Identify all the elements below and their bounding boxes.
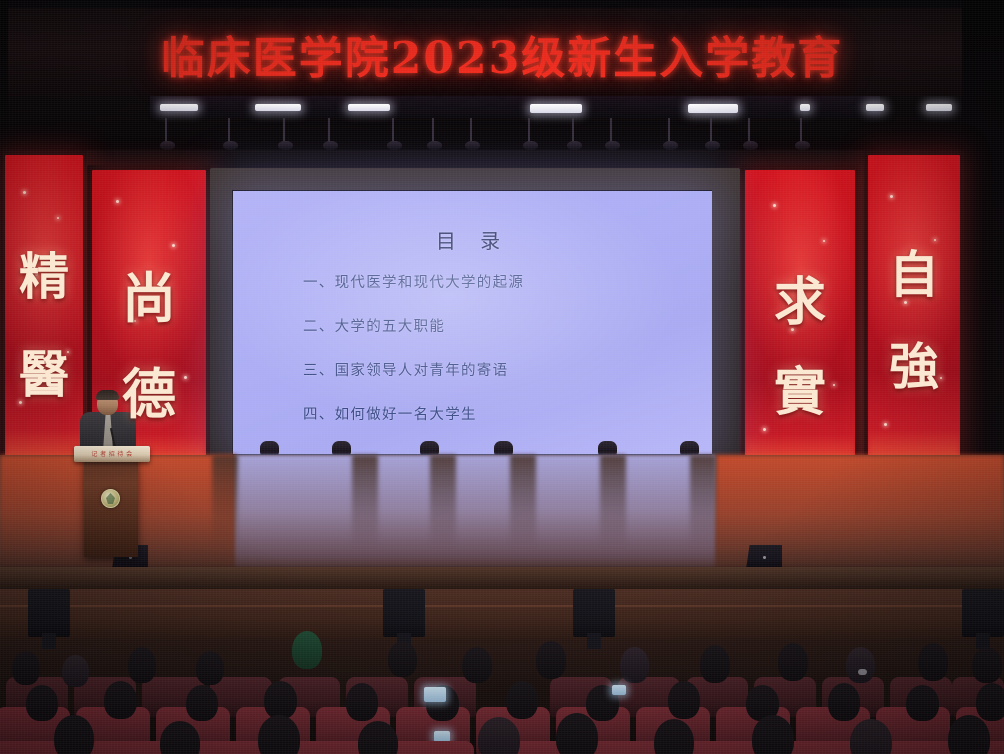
audience-head: [186, 685, 218, 721]
ceiling-light-strip: [800, 104, 810, 111]
slide-item: 一、现代医学和现代大学的起源: [303, 271, 703, 292]
lamp-hang-rod: [228, 118, 230, 142]
floor-reflection-pillar: [352, 455, 378, 547]
ceiling-light-strip: [926, 104, 952, 111]
slide-title: 目 录: [233, 225, 712, 254]
audience-head: [12, 651, 40, 685]
audience-head: [26, 685, 58, 721]
audience-head: [196, 651, 224, 685]
audience-face-mask: [858, 669, 867, 675]
floor-reflection-pillar: [212, 455, 238, 547]
audience-head: [62, 655, 89, 687]
truss-lamp: [465, 141, 480, 150]
audience-head: [506, 681, 538, 719]
truss-lamp: [663, 141, 678, 150]
banner-char-qiang: 強: [868, 327, 960, 399]
truss-lamp: [743, 141, 758, 150]
wall-speaker: [573, 589, 615, 637]
podium-school-crest-icon: [101, 489, 120, 508]
audience-head: [536, 641, 566, 679]
floor-reflection-pillar: [690, 455, 716, 547]
audience-head: [264, 681, 297, 719]
wall-speaker: [28, 589, 70, 637]
lamp-hang-rod: [748, 118, 750, 142]
audience-head: [104, 681, 137, 719]
truss-lamp: [705, 141, 720, 150]
podium-nameplate: 记 者 招 待 会: [74, 446, 150, 462]
truss-lamp: [223, 141, 238, 150]
floor-reflection-pillar: [430, 455, 456, 547]
wall-speaker-stem: [587, 633, 601, 649]
banner-char-qiu: 求: [745, 260, 855, 335]
floor-reflection-pillar: [510, 455, 536, 547]
truss-lamp: [387, 141, 402, 150]
stage-front-lip: [0, 567, 1004, 589]
auditorium-photo: 临床医学院2023级新生入学教育 精 醫 尚 德 求 實: [0, 0, 1004, 754]
wall-speaker-stem: [42, 633, 56, 649]
audience-head: [972, 647, 1002, 683]
led-headline-panel: 临床医学院2023级新生入学教育: [0, 8, 1004, 96]
audience-head: [700, 645, 730, 683]
audience-head: [346, 683, 378, 721]
audience-device-screen: [612, 685, 626, 695]
audience-head: [54, 715, 94, 754]
lamp-hang-rod: [528, 118, 530, 142]
banner-char-zi: 自: [868, 235, 960, 307]
banner-char-yi: 醫: [5, 335, 83, 407]
slide-contents-list: 一、现代医学和现代大学的起源 二、大学的五大职能 三、国家领导人对青年的寄语 四…: [303, 271, 703, 447]
truss-lamp: [427, 141, 442, 150]
lamp-hang-rod: [800, 118, 802, 142]
audience-back-wall: [0, 589, 1004, 639]
audience-head: [358, 721, 398, 754]
podium-nameplate-text: 记 者 招 待 会: [74, 449, 150, 458]
audience-head: [668, 681, 700, 719]
banner-char-shi: 實: [745, 350, 855, 425]
lamp-hang-rod: [432, 118, 434, 142]
lamp-hang-rod: [668, 118, 670, 142]
audience-head: [620, 647, 649, 683]
wall-speaker: [962, 589, 1004, 637]
audience-head: [976, 683, 1004, 721]
floor-reflection-pillar: [600, 455, 626, 547]
slide-item: 二、大学的五大职能: [303, 315, 703, 336]
audience-head: [462, 647, 492, 683]
ceiling-light-strip: [348, 104, 390, 111]
slide-item: 三、国家领导人对青年的寄语: [303, 359, 703, 380]
audience-head: [778, 643, 808, 681]
ceiling-light-strip: [160, 104, 198, 111]
audience-device-screen: [424, 687, 446, 702]
audience-head: [292, 631, 322, 669]
lamp-hang-rod: [283, 118, 285, 142]
audience-head: [556, 713, 598, 754]
lamp-hang-rod: [572, 118, 574, 142]
lamp-hang-rod: [610, 118, 612, 142]
truss-lamp: [523, 141, 538, 150]
slide-item: 四、如何做好一名大学生: [303, 403, 703, 424]
stage-wedge-monitor: [746, 545, 782, 569]
audience-head: [128, 647, 156, 683]
ceiling-light-strip: [866, 104, 884, 111]
banner-char-jing: 精: [5, 237, 83, 309]
audience-area: [0, 589, 1004, 754]
truss-lamp: [323, 141, 338, 150]
banner-char-de: 德: [92, 350, 206, 429]
truss-lamp: [160, 141, 175, 150]
wall-speaker: [383, 589, 425, 637]
audience-head: [918, 643, 948, 681]
lamp-hang-rod: [328, 118, 330, 142]
lamp-hang-rod: [392, 118, 394, 142]
projection-screen: 目 录 一、现代医学和现代大学的起源 二、大学的五大职能 三、国家领导人对青年的…: [233, 191, 712, 454]
ceiling-light-strip: [255, 104, 301, 111]
lamp-hang-rod: [470, 118, 472, 142]
truss-lamp: [278, 141, 293, 150]
truss-lamp: [605, 141, 620, 150]
audience-head: [846, 647, 875, 683]
lamp-hang-rod: [165, 118, 167, 142]
lamp-hang-rod: [710, 118, 712, 142]
led-banner-title: 临床医学院2023级新生入学教育: [0, 22, 1004, 86]
audience-head: [906, 685, 939, 721]
audience-head: [388, 641, 417, 677]
ceiling-light-strip: [688, 104, 738, 113]
ceiling-light-strip: [530, 104, 582, 113]
truss-lamp: [795, 141, 810, 150]
audience-head: [828, 683, 860, 721]
floor-reflection-screen: [235, 455, 715, 573]
banner-char-shang: 尚: [92, 254, 206, 333]
truss-lamp: [567, 141, 582, 150]
